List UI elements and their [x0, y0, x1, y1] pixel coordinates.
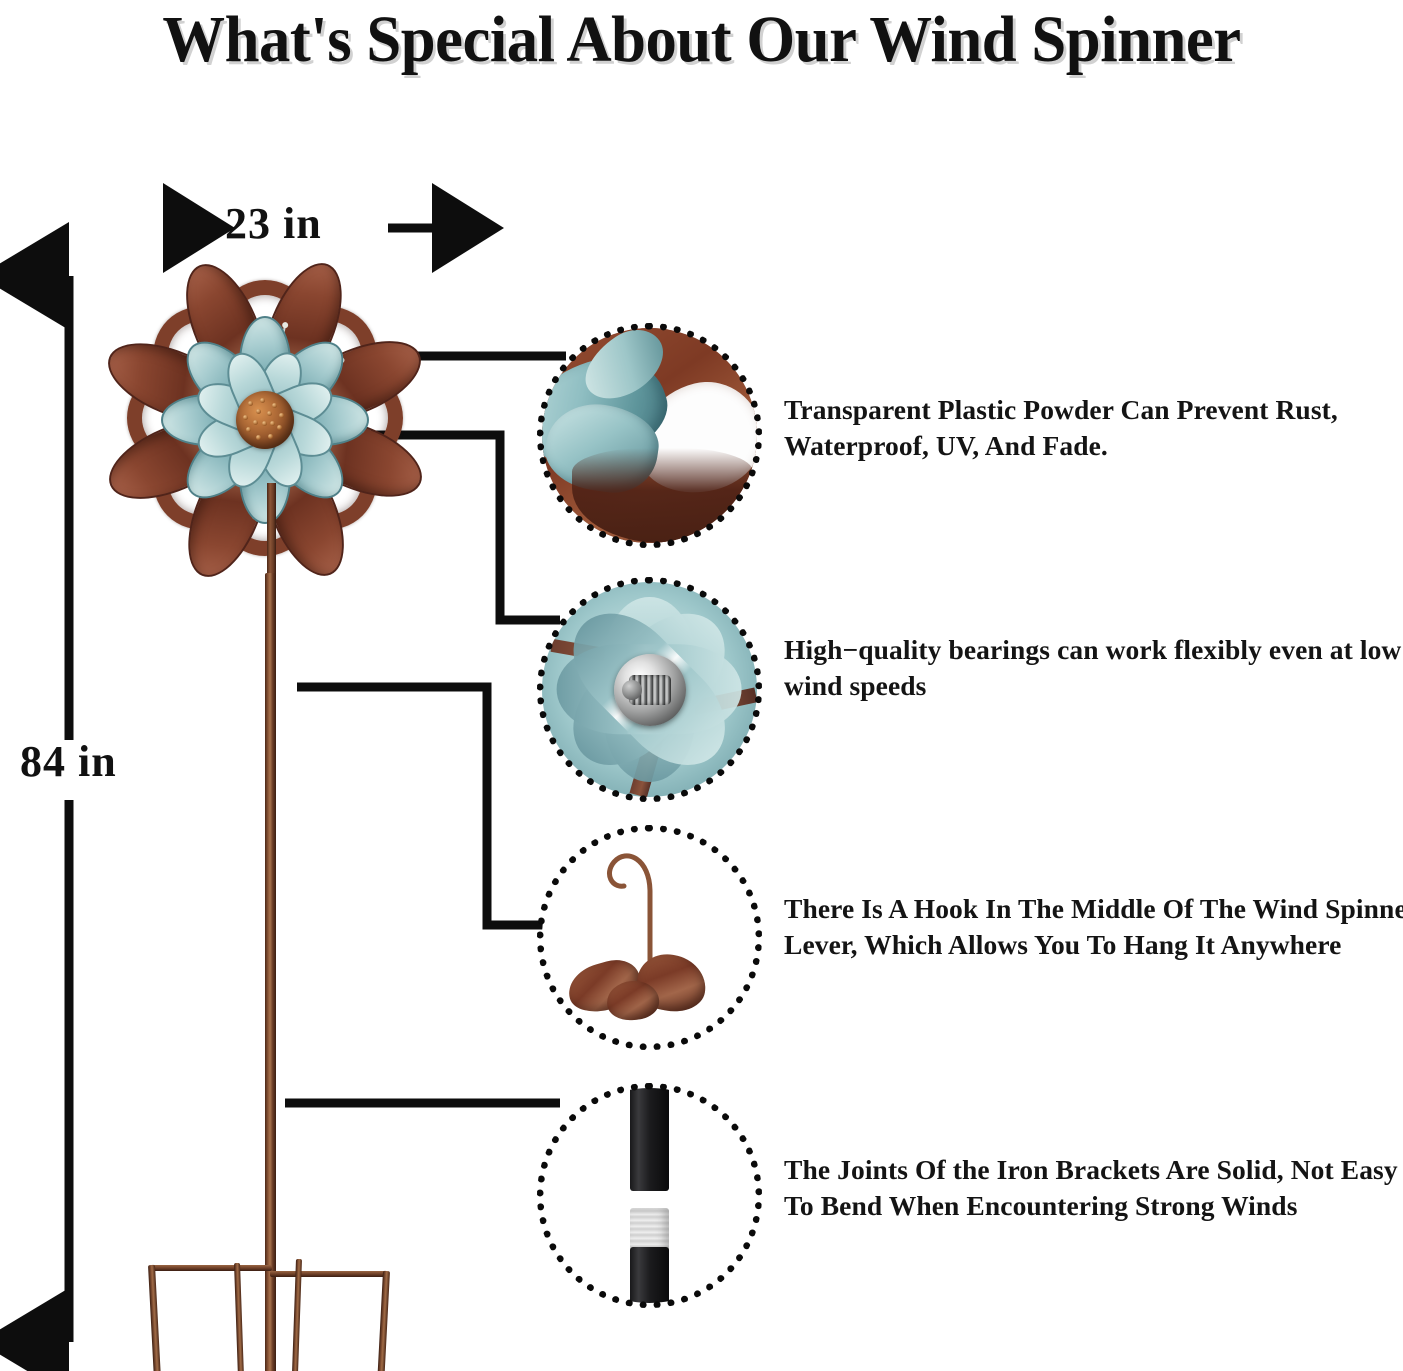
copper-hub: [236, 391, 294, 449]
stake-leg: [148, 1265, 169, 1371]
spinner-pole: [265, 573, 276, 1371]
detail-circle-joint: [542, 1088, 757, 1303]
stake-leg: [234, 1263, 249, 1371]
detail-circle-hook: [542, 830, 757, 1045]
width-dimension-label: 23 in: [225, 199, 322, 249]
lower-pole-segment: [630, 1247, 669, 1303]
detail-circle-powder-coating: [542, 328, 757, 543]
upper-pole-segment: [630, 1088, 669, 1191]
spinner-shaft-upper: [267, 483, 276, 583]
threaded-connector: [630, 1208, 669, 1251]
stake-crossbar-left: [150, 1265, 272, 1271]
page-title: What's Special About Our Wind Spinner: [35, 2, 1368, 78]
infographic-page: What's Special About Our Wind Spinner 23…: [0, 0, 1403, 1371]
stake-crossbar-right: [270, 1271, 388, 1277]
wind-spinner-product: [100, 255, 460, 1365]
feature-text-iron-brackets: The Joints Of the Iron Brackets Are Soli…: [784, 1152, 1403, 1224]
feature-text-powder-coating: Transparent Plastic Powder Can Prevent R…: [784, 392, 1403, 464]
stake-leg: [369, 1271, 390, 1371]
detail-circle-bearing: [542, 582, 757, 797]
feature-text-bearings: High−quality bearings can work flexibly …: [784, 632, 1403, 704]
feature-text-hook: There Is A Hook In The Middle Of The Win…: [784, 891, 1403, 963]
spinner-head: [100, 255, 430, 585]
